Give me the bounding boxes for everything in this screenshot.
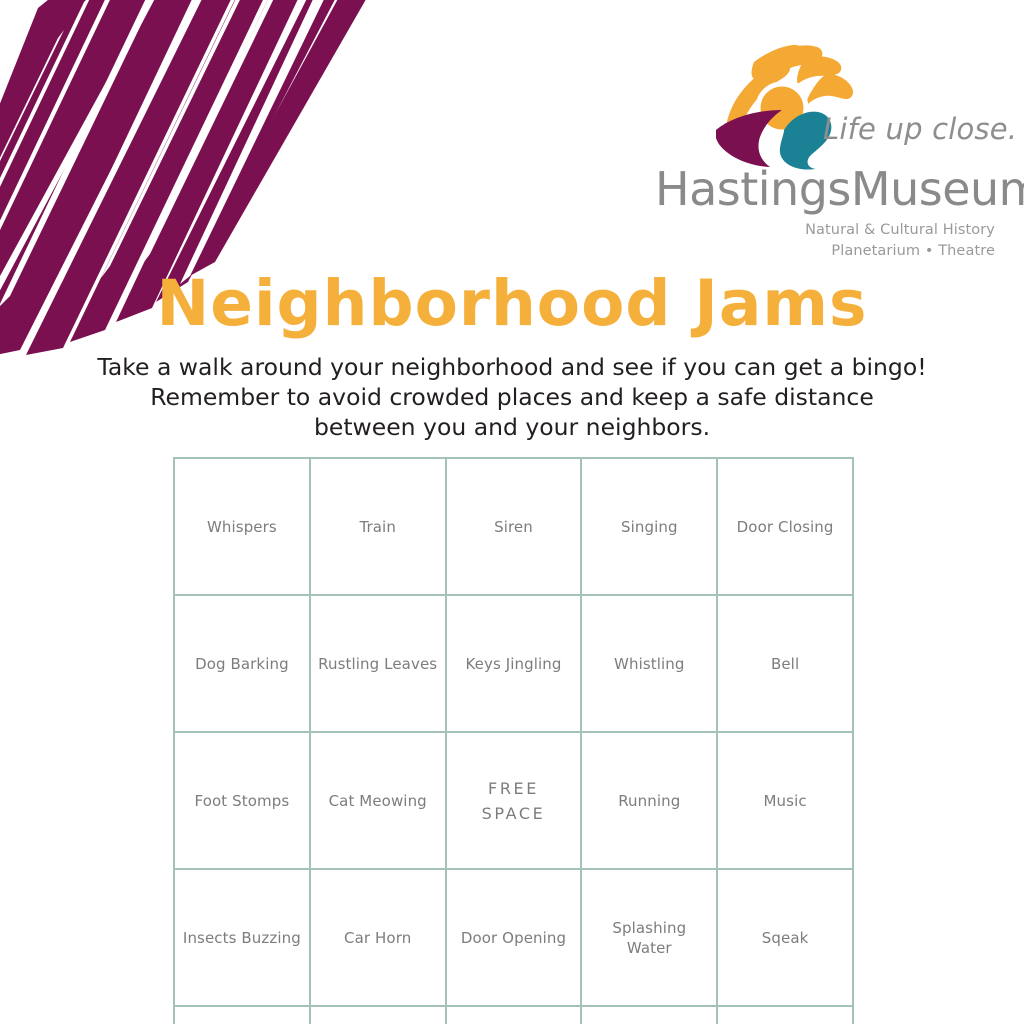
bingo-cell[interactable]: Running <box>582 733 718 870</box>
logo-subtitle-line-2: Planetarium • Theatre <box>655 243 995 259</box>
instruction-line-3: between you and your neighbors. <box>0 412 1024 442</box>
bingo-cell[interactable]: Siren <box>447 459 583 596</box>
instruction-line-1: Take a walk around your neighborhood and… <box>0 352 1024 382</box>
page-title: Neighborhood Jams <box>0 272 1024 335</box>
bingo-grid: WhispersTrainSirenSingingDoor ClosingDog… <box>173 457 854 1024</box>
bingo-cell[interactable]: SplashingWater <box>582 870 718 1007</box>
logo-tagline: Life up close. <box>823 112 1017 146</box>
bingo-cell[interactable] <box>582 1007 718 1024</box>
page-instructions: Take a walk around your neighborhood and… <box>0 352 1024 442</box>
bingo-cell[interactable]: Door Closing <box>718 459 854 596</box>
bingo-cell[interactable]: Train <box>311 459 447 596</box>
logo-subtitle-line-1: Natural & Cultural History <box>655 222 995 238</box>
bingo-cell[interactable]: Whistling <box>582 596 718 733</box>
bingo-cell[interactable] <box>718 1007 854 1024</box>
instruction-line-2: Remember to avoid crowded places and kee… <box>0 382 1024 412</box>
bingo-cell[interactable]: Rustling Leaves <box>311 596 447 733</box>
bingo-cell[interactable] <box>311 1007 447 1024</box>
bingo-worksheet-page: Life up close. HastingsMuseum Natural & … <box>0 0 1024 1024</box>
bingo-cell[interactable]: Dog Barking <box>175 596 311 733</box>
bingo-cell[interactable] <box>175 1007 311 1024</box>
bingo-cell[interactable]: Foot Stomps <box>175 733 311 870</box>
bingo-cell[interactable]: Bell <box>718 596 854 733</box>
bingo-cell[interactable]: Sqeak <box>718 870 854 1007</box>
bingo-cell[interactable]: Music <box>718 733 854 870</box>
bingo-cell-free-space[interactable]: FREESPACE <box>447 733 583 870</box>
bingo-cell[interactable]: Door Opening <box>447 870 583 1007</box>
bingo-cell[interactable]: Singing <box>582 459 718 596</box>
hastings-museum-logo: Life up close. HastingsMuseum Natural & … <box>655 44 1000 259</box>
hastings-museum-hand-sun-swoosh-logo-icon <box>710 44 855 174</box>
bingo-cell[interactable]: Car Horn <box>311 870 447 1007</box>
bingo-cell[interactable]: Cat Meowing <box>311 733 447 870</box>
bingo-cell[interactable]: Keys Jingling <box>447 596 583 733</box>
bingo-cell[interactable] <box>447 1007 583 1024</box>
bingo-cell[interactable]: Whispers <box>175 459 311 596</box>
logo-wordmark: HastingsMuseum <box>655 166 995 212</box>
bingo-cell[interactable]: Insects Buzzing <box>175 870 311 1007</box>
